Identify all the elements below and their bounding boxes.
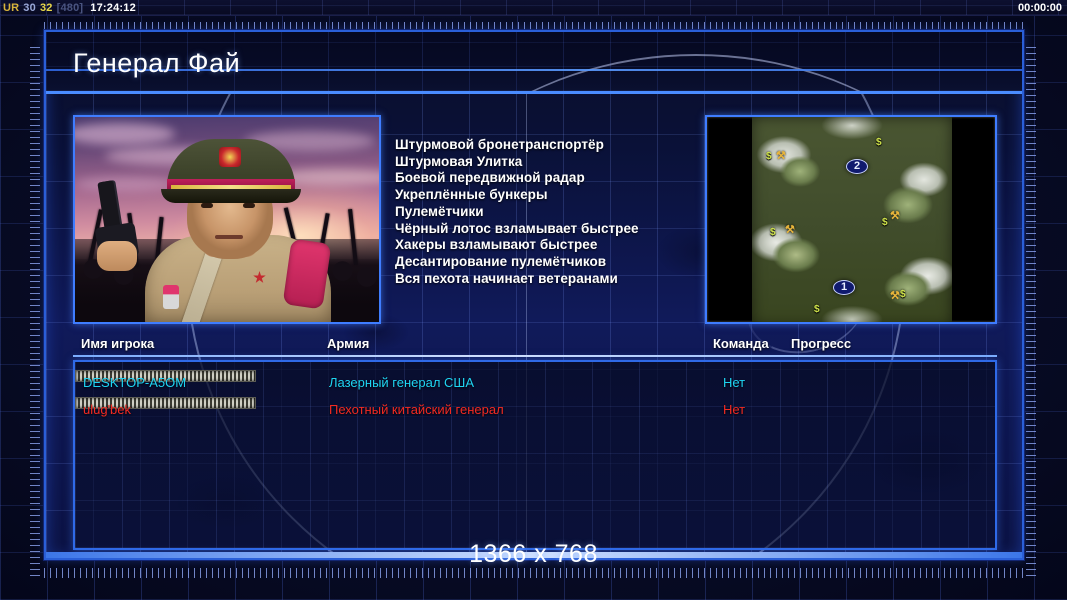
status-bar-left: UR 30 32 [480] 17:24:12 bbox=[0, 2, 136, 14]
info-row: Штурмовой бронетранспортёр Штурмовая Ули… bbox=[73, 115, 997, 324]
column-header-progress: Прогресс bbox=[791, 336, 851, 351]
main-panel: Генерал Фай bbox=[44, 30, 1024, 560]
player-team: Нет bbox=[723, 370, 745, 396]
ruler-bottom bbox=[44, 568, 1024, 578]
player-army: Лазерный генерал США bbox=[329, 370, 474, 396]
portrait-eye bbox=[201, 203, 213, 208]
supply-marker: $ bbox=[882, 217, 888, 228]
portrait-eye bbox=[243, 203, 255, 208]
status-clock: 17:24:12 bbox=[87, 2, 136, 14]
supply-marker: $ bbox=[876, 137, 882, 148]
supply-marker: $ bbox=[770, 227, 776, 238]
ability-item: Пулемётчики bbox=[395, 204, 695, 221]
supply-marker: $ bbox=[900, 289, 906, 300]
player-name: ulug'bek bbox=[83, 397, 131, 423]
loading-screen: UR 30 32 [480] 17:24:12 00:00:00 Генерал… bbox=[0, 0, 1067, 600]
ability-item: Вся пехота начинает ветеранами bbox=[395, 271, 695, 288]
general-portrait bbox=[73, 115, 381, 324]
player-army: Пехотный китайский генерал bbox=[329, 397, 504, 423]
column-header-army: Армия bbox=[327, 336, 369, 351]
start-position-marker: 1 bbox=[833, 280, 855, 295]
column-header-name: Имя игрока bbox=[81, 336, 154, 351]
portrait-cap-brim bbox=[161, 189, 301, 203]
player-name: DESKTOP-A5OM bbox=[83, 370, 186, 396]
player-team: Нет bbox=[723, 397, 745, 423]
portrait-cap-emblem bbox=[219, 147, 241, 167]
oil-marker: ⚒ bbox=[776, 149, 786, 162]
ability-item: Боевой передвижной радар bbox=[395, 170, 695, 187]
ability-item: Десантирование пулемётчиков bbox=[395, 254, 695, 271]
general-abilities-list: Штурмовой бронетранспортёр Штурмовая Ули… bbox=[395, 115, 695, 324]
minimap-terrain: $ ⚒ $ $ ⚒ $ ⚒ $ ⚒ $ 2 1 bbox=[752, 117, 952, 324]
column-header-team: Команда bbox=[713, 336, 769, 351]
supply-marker: $ bbox=[766, 151, 772, 162]
ability-item: Штурмовая Улитка bbox=[395, 154, 695, 171]
header-underline bbox=[73, 355, 997, 357]
supply-marker: $ bbox=[814, 304, 820, 315]
ruler-left bbox=[30, 46, 40, 576]
status-label-ur: UR bbox=[3, 2, 19, 14]
table-row[interactable]: ulug'bek Пехотный китайский генерал Нет bbox=[75, 397, 995, 423]
status-timer: 00:00:00 bbox=[1018, 1, 1062, 15]
player-list-header: Имя игрока Армия Команда Прогресс bbox=[73, 336, 997, 356]
resolution-label: 1366 x 768 bbox=[0, 540, 1067, 569]
portrait-cloud bbox=[75, 177, 175, 191]
start-position-marker: 2 bbox=[846, 159, 868, 174]
oil-marker: ⚒ bbox=[785, 223, 795, 236]
ability-item: Хакеры взламывают быстрее bbox=[395, 237, 695, 254]
portrait-hand bbox=[97, 241, 137, 271]
table-row[interactable]: DESKTOP-A5OM Лазерный генерал США Нет bbox=[75, 370, 995, 396]
ability-item: Чёрный лотос взламывает быстрее bbox=[395, 221, 695, 238]
player-list: DESKTOP-A5OM Лазерный генерал США Нет ul… bbox=[73, 360, 997, 550]
panel-title-bar: Генерал Фай bbox=[46, 32, 1022, 94]
status-bar-grid bbox=[0, 0, 1067, 15]
portrait-medal bbox=[163, 285, 179, 309]
oil-marker: ⚒ bbox=[890, 209, 900, 222]
page-title: Генерал Фай bbox=[46, 32, 1022, 79]
ability-item: Укреплённые бункеры bbox=[395, 187, 695, 204]
status-bracket: [480] bbox=[57, 2, 84, 14]
portrait-mouth bbox=[215, 235, 243, 239]
status-bar: UR 30 32 [480] 17:24:12 00:00:00 bbox=[0, 0, 1067, 16]
ability-item: Штурмовой бронетранспортёр bbox=[395, 137, 695, 154]
minimap-preview: $ ⚒ $ $ ⚒ $ ⚒ $ ⚒ $ 2 1 bbox=[705, 115, 997, 324]
oil-marker: ⚒ bbox=[890, 289, 900, 302]
ruler-right bbox=[1026, 46, 1036, 576]
status-value-2: 32 bbox=[40, 2, 53, 14]
status-value-1: 30 bbox=[23, 2, 36, 14]
